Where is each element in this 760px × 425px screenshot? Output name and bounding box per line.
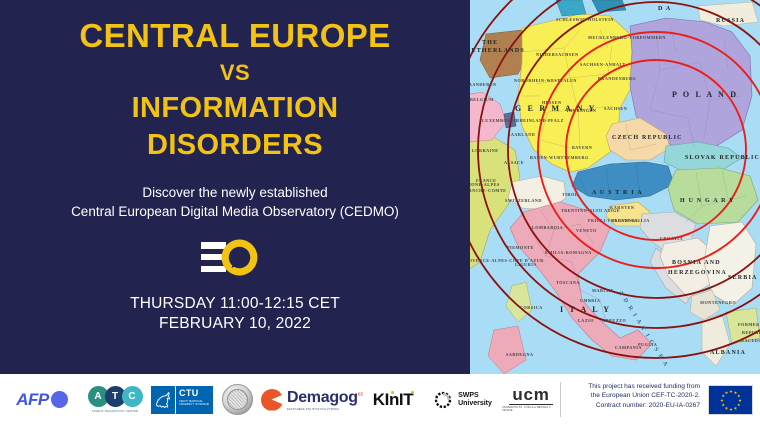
eu-star [722, 403, 725, 406]
partner-logo-kinit[interactable]: KInIT [362, 374, 424, 425]
partner-logo-charles-university[interactable] [216, 374, 258, 425]
eu-star [729, 408, 732, 411]
partner-footer: AFP A T C ATHENS TECHNOLOGY CENTER CTU [0, 374, 760, 425]
ctu-subtitle: CZECH TECHNICAL UNIVERSITY IN PRAGUE [179, 400, 211, 406]
eu-flag [708, 385, 753, 415]
eu-star [734, 391, 737, 394]
funding-line-3: Contract number: 2020-EU-IA-0267 [566, 401, 700, 410]
cedmo-ring-icon [220, 238, 259, 277]
ctu-wordmark: CTU [179, 389, 211, 398]
swps-line-1: SWPS [458, 392, 492, 400]
ctu-box: CTU CZECH TECHNICAL UNIVERSITY IN PRAGUE [151, 386, 213, 414]
title-line-3: INFORMATION [0, 90, 470, 127]
eu-star [725, 391, 728, 394]
eu-star [737, 403, 740, 406]
ctu-text: CTU CZECH TECHNICAL UNIVERSITY IN PRAGUE [175, 386, 213, 414]
event-datetime: THURSDAY 11:00-12:15 CET FEBRUARY 10, 20… [0, 294, 470, 334]
cedmo-logo-icon [201, 237, 261, 277]
atc-subtitle: ATHENS TECHNOLOGY CENTER [92, 410, 139, 413]
ucm-subtitle: UNIVERZITA SV. CYRILA A METODA V TRNAVE [502, 406, 560, 412]
eu-star [729, 390, 732, 393]
subtitle-line-1: Discover the newly established [0, 183, 470, 202]
funding-statement: This project has received funding from t… [566, 382, 700, 410]
ucm-rule [509, 404, 553, 405]
eu-flag-icon [706, 374, 754, 425]
event-date: FEBRUARY 10, 2022 [0, 314, 470, 334]
partner-logo-demagog[interactable]: Demagogcz FACTCHECK POLITICKYCH VYROKU [258, 374, 366, 425]
partner-logo-swps[interactable]: SWPS University [424, 374, 500, 425]
title-line-2: VS [0, 56, 470, 90]
partner-logo-ucm[interactable]: ucm UNIVERZITA SV. CYRILA A METODA V TRN… [502, 374, 560, 425]
subtitle: Discover the newly established Central E… [0, 183, 470, 221]
atc-letter-c: C [122, 386, 143, 407]
afp-circle-icon [51, 391, 68, 408]
atc-circles: A T C [88, 386, 143, 407]
eu-star [737, 394, 740, 397]
event-time: THURSDAY 11:00-12:15 CET [0, 294, 470, 314]
europe-map: THENETHERLANDSBELGIUMVLAANDERENLUXEMBOUR… [460, 0, 760, 374]
swps-wrap: SWPS University [432, 389, 492, 411]
funding-line-2: the European Union CEF-TC-2020-2. [566, 391, 700, 400]
event-banner: THENETHERLANDSBELGIUMVLAANDERENLUXEMBOUR… [0, 0, 760, 425]
hero-panel: CENTRAL EUROPE VS INFORMATION DISORDERS … [0, 0, 470, 374]
swps-text: SWPS University [458, 392, 492, 408]
swps-sunburst-icon [432, 389, 454, 411]
kinit-wordmark: KInIT [373, 390, 414, 410]
footer-divider [560, 382, 561, 417]
demagog-subtitle: FACTCHECK POLITICKYCH VYROKU [287, 408, 363, 411]
title-line-1: CENTRAL EUROPE [0, 16, 470, 56]
czech-lion-icon [151, 386, 175, 414]
ucm-wordmark: ucm [512, 387, 549, 403]
eu-star [738, 399, 741, 402]
university-seal-icon [222, 384, 253, 415]
subtitle-line-2: Central European Digital Media Observato… [0, 202, 470, 221]
page-title: CENTRAL EUROPE VS INFORMATION DISORDERS [0, 16, 470, 164]
eu-star [725, 407, 728, 410]
demagog-wrap: Demagogcz FACTCHECK POLITICKYCH VYROKU [261, 389, 363, 411]
demagog-wordmark: Demagog [287, 389, 358, 406]
partner-logo-afp[interactable]: AFP [6, 374, 78, 425]
afp-wordmark: AFP [16, 390, 49, 410]
partner-logo-ctu[interactable]: CTU CZECH TECHNICAL UNIVERSITY IN PRAGUE [150, 374, 214, 425]
swps-line-2: University [458, 400, 492, 408]
eu-star [734, 407, 737, 410]
funding-line-1: This project has received funding from [566, 382, 700, 391]
eu-star [722, 394, 725, 397]
title-line-4: DISORDERS [0, 127, 470, 164]
partner-logo-atc[interactable]: A T C ATHENS TECHNOLOGY CENTER [84, 374, 146, 425]
map-graphic [460, 0, 760, 374]
demagog-pacman-icon [261, 389, 283, 411]
eu-star [720, 399, 723, 402]
